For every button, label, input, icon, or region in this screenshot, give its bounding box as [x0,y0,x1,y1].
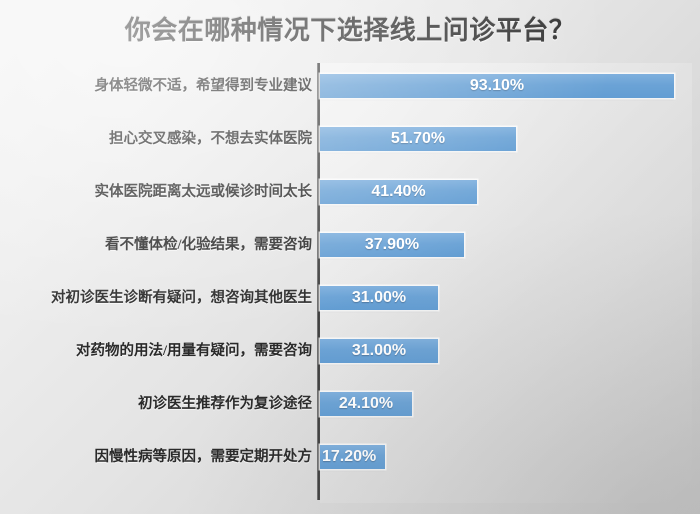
category-label: 因慢性病等原因，需要定期开处方 [8,445,312,469]
bar[interactable] [320,180,477,204]
bar[interactable] [320,233,464,257]
bar[interactable] [320,339,438,363]
bar-row: 对初诊医生诊断有疑问，想咨询其他医生 31.00% [0,272,700,324]
category-label: 担心交叉感染，不想去实体医院 [8,127,312,151]
bar-row: 因慢性病等原因，需要定期开处方 17.20% [0,431,700,483]
category-label: 对药物的用法/用量有疑问，需要咨询 [8,339,312,363]
chart-slide: 你会在哪种情况下选择线上问诊平台？ 身体轻微不适，希望得到专业建议 93.10%… [0,0,700,514]
bar-row: 身体轻微不适，希望得到专业建议 93.10% [0,60,700,112]
bar[interactable] [320,392,412,416]
bar[interactable] [320,286,438,310]
bar-row: 担心交叉感染，不想去实体医院 51.70% [0,113,700,165]
category-label: 对初诊医生诊断有疑问，想咨询其他医生 [8,286,312,310]
bar-row: 初诊医生推荐作为复诊途径 24.10% [0,378,700,430]
category-label: 实体医院距离太远或候诊时间太长 [8,180,312,204]
category-label: 看不懂体检/化验结果，需要咨询 [8,233,312,257]
category-label: 身体轻微不适，希望得到专业建议 [8,74,312,98]
bar-row: 实体医院距离太远或候诊时间太长 41.40% [0,166,700,218]
bar[interactable] [320,127,516,151]
bar-row: 看不懂体检/化验结果，需要咨询 37.90% [0,219,700,271]
chart-title: 你会在哪种情况下选择线上问诊平台？ [0,10,700,47]
bar-row: 对药物的用法/用量有疑问，需要咨询 31.00% [0,325,700,377]
plot-area: 身体轻微不适，希望得到专业建议 93.10% 担心交叉感染，不想去实体医院 51… [0,60,700,508]
category-label: 初诊医生推荐作为复诊途径 [8,392,312,416]
bar[interactable] [320,445,385,469]
bar[interactable] [320,74,674,98]
